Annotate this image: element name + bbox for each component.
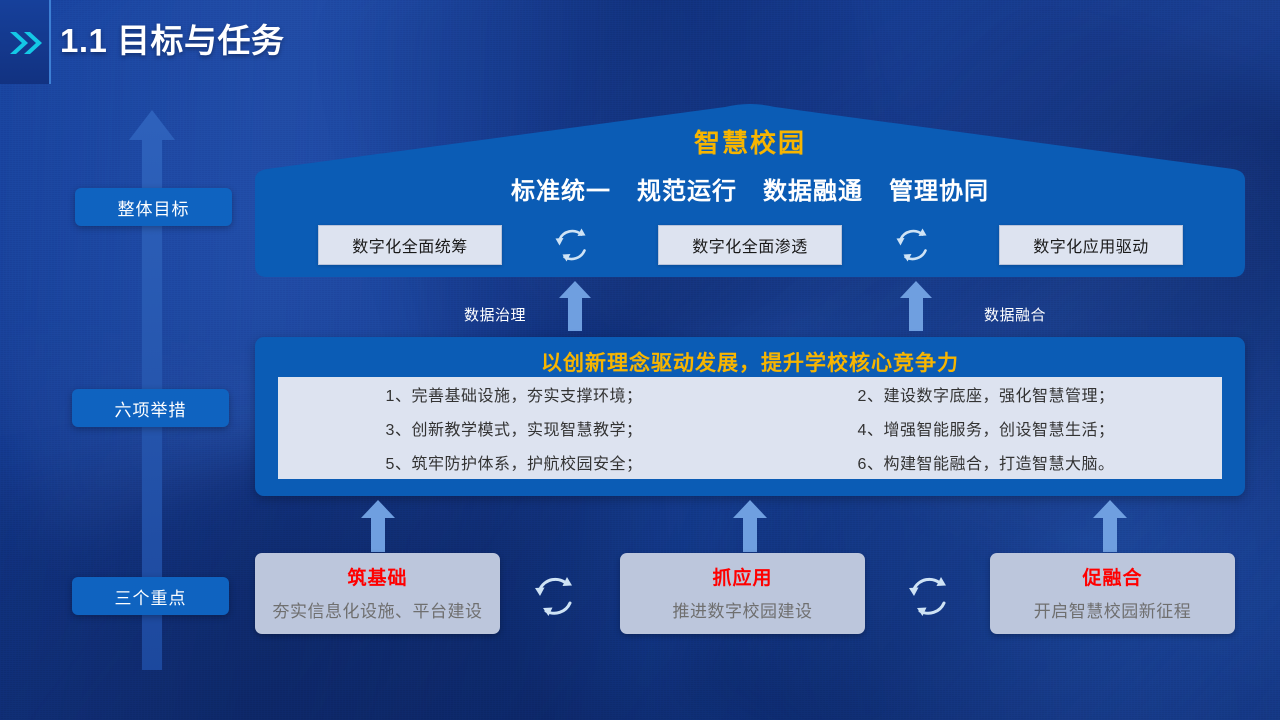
sidebar-item-three-priorities[interactable]: 三个重点 <box>72 577 229 615</box>
top-panel-pillars: 标准统一规范运行数据融通管理协同 <box>255 171 1245 206</box>
arrow-up-icon <box>559 281 591 331</box>
measure-item: 3、创新教学模式，实现智慧教学； <box>278 416 750 440</box>
sidebar-item-overall-goal[interactable]: 整体目标 <box>75 188 232 226</box>
measures-grid: 1、完善基础设施，夯实支撑环境； 2、建设数字底座，强化智慧管理； 3、创新教学… <box>278 377 1222 479</box>
cycle-arrows-icon <box>891 223 935 267</box>
measure-item: 1、完善基础设施，夯实支撑环境； <box>278 382 750 406</box>
double-chevron-right-icon <box>8 30 44 56</box>
chip-digital-application-driven[interactable]: 数字化应用驱动 <box>999 225 1183 265</box>
slide-header: 1.1 目标与任务 <box>0 0 1280 84</box>
priority-card-application[interactable]: 抓应用 推进数字校园建设 <box>620 553 865 634</box>
top-panel-chip-row: 数字化全面统筹 数字化全面渗透 <box>255 225 1245 265</box>
connector-label-data-fusion: 数据融合 <box>984 304 1046 325</box>
arrow-up-icon <box>733 500 767 552</box>
priority-card-foundation[interactable]: 筑基础 夯实信息化设施、平台建设 <box>255 553 500 634</box>
measure-item: 5、筑牢防护体系，护航校园安全； <box>278 450 750 474</box>
pillar-1: 规范运行 <box>637 178 737 205</box>
card-title: 促融合 <box>990 563 1235 590</box>
pill-label: 整体目标 <box>118 195 190 220</box>
card-title: 抓应用 <box>620 563 865 590</box>
sidebar-item-six-measures[interactable]: 六项举措 <box>72 389 229 427</box>
measure-item: 6、构建智能融合，打造智慧大脑。 <box>750 450 1222 474</box>
pillar-3: 管理协同 <box>889 178 989 205</box>
top-panel-title: 智慧校园 <box>255 123 1245 160</box>
pill-label: 六项举措 <box>115 396 187 421</box>
connector-label-data-governance: 数据治理 <box>464 304 526 325</box>
measure-item: 2、建设数字底座，强化智慧管理； <box>750 382 1222 406</box>
arrow-up-icon <box>1093 500 1127 552</box>
chip-digital-overall-planning[interactable]: 数字化全面统筹 <box>318 225 502 265</box>
pill-label: 三个重点 <box>115 584 187 609</box>
chip-digital-full-penetration[interactable]: 数字化全面渗透 <box>658 225 842 265</box>
cycle-arrows-icon <box>550 223 594 267</box>
measure-item: 4、增强智能服务，创设智慧生活； <box>750 416 1222 440</box>
card-title: 筑基础 <box>255 563 500 590</box>
priority-card-integration[interactable]: 促融合 开启智慧校园新征程 <box>990 553 1235 634</box>
middle-panel-content-box: 1、完善基础设施，夯实支撑环境； 2、建设数字底座，强化智慧管理； 3、创新教学… <box>278 377 1222 479</box>
arrow-up-icon <box>900 281 932 331</box>
chip-label: 数字化全面渗透 <box>692 233 808 257</box>
card-subtitle: 夯实信息化设施、平台建设 <box>255 597 500 622</box>
card-subtitle: 开启智慧校园新征程 <box>990 597 1235 622</box>
cycle-arrows-icon <box>903 570 955 622</box>
middle-panel-title: 以创新理念驱动发展，提升学校核心竞争力 <box>255 347 1245 377</box>
cycle-arrows-icon <box>529 570 581 622</box>
top-goal-panel: 智慧校园 标准统一规范运行数据融通管理协同 数字化全面统筹 <box>255 99 1245 277</box>
middle-measures-panel: 以创新理念驱动发展，提升学校核心竞争力 1、完善基础设施，夯实支撑环境； 2、建… <box>255 337 1245 496</box>
connector-zone: 数据治理 数据融合 <box>255 278 1245 338</box>
pillar-2: 数据融通 <box>763 178 863 205</box>
card-subtitle: 推进数字校园建设 <box>620 597 865 622</box>
chip-label: 数字化应用驱动 <box>1033 233 1149 257</box>
slide-canvas: 1.1 目标与任务 整体目标 六项举措 三个重点 智慧校园 <box>0 0 1280 720</box>
page-title: 1.1 目标与任务 <box>60 14 285 62</box>
chip-label: 数字化全面统筹 <box>352 233 468 257</box>
pillar-0: 标准统一 <box>511 178 611 205</box>
arrow-up-icon <box>361 500 395 552</box>
header-divider <box>49 0 51 84</box>
